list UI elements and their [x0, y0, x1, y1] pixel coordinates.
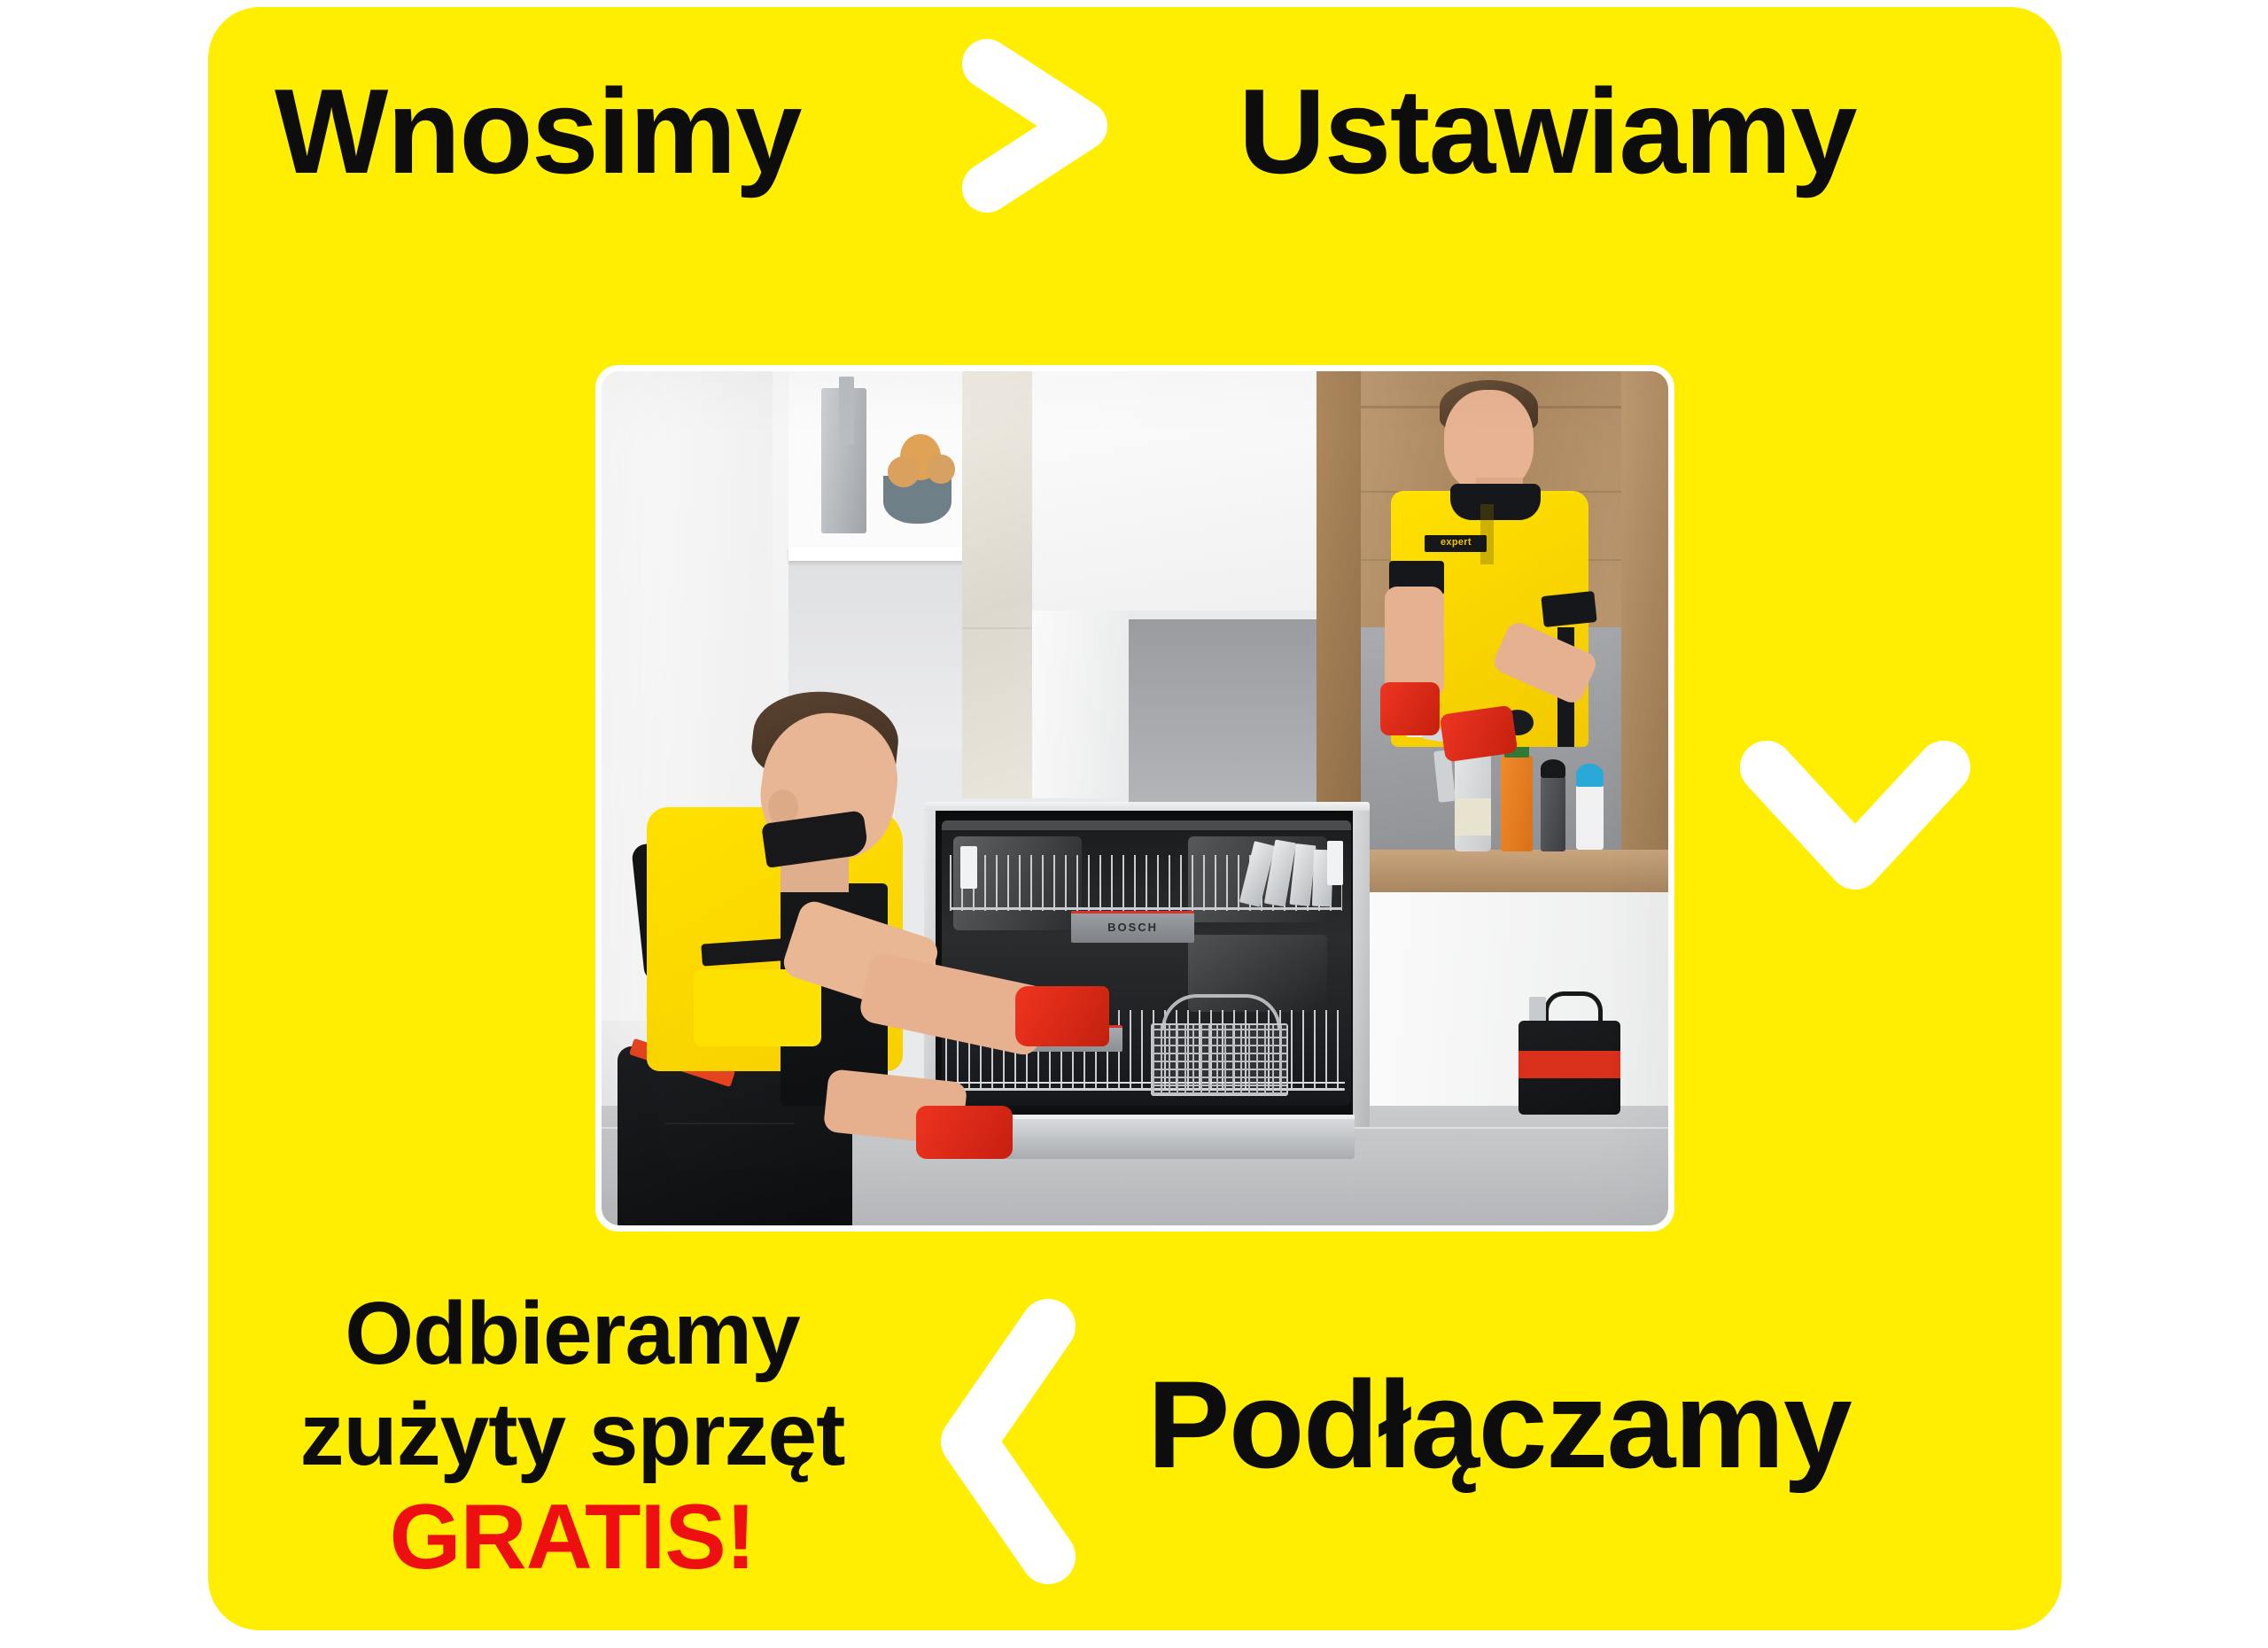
step-label-ustawiamy: Ustawiamy	[1239, 71, 1856, 191]
photo-scene: BOSCH expert	[602, 371, 1668, 1225]
banner-stage: Wnosimy Ustawiamy	[0, 0, 2268, 1648]
photo-vignette	[602, 371, 1668, 1225]
installation-photo: BOSCH expert	[595, 365, 1674, 1232]
step-label-wnosimy: Wnosimy	[275, 71, 801, 191]
chevron-left-icon	[917, 1289, 1085, 1595]
chevron-right-icon	[955, 37, 1115, 214]
step-label-podlaczamy: Podłączamy	[1147, 1363, 1851, 1487]
step-label-odbieramy-line1: Odbieramy	[218, 1289, 927, 1378]
chevron-down-icon	[1736, 734, 1974, 911]
step-label-odbieramy-block: Odbieramy zużyty sprzęt GRATIS!	[218, 1289, 927, 1583]
step-label-gratis: GRATIS!	[218, 1491, 927, 1583]
step-label-odbieramy-line2: zużyty sprzęt	[218, 1390, 927, 1479]
